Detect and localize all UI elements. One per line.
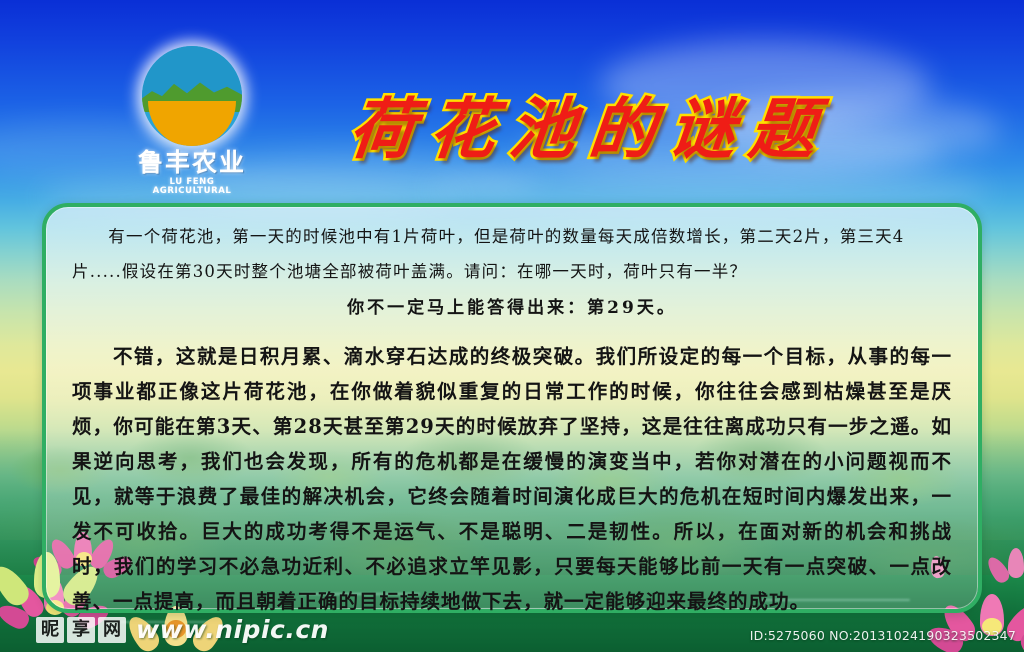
watermark-char: 网 bbox=[98, 617, 126, 643]
riddle-answer-line: 你不一定马上能答得出来：第29天。 bbox=[72, 291, 952, 325]
lotus-bud bbox=[996, 548, 1024, 592]
image-id-caption: ID:5275060 NO:20131024190323502347 bbox=[750, 628, 1016, 643]
site-watermark: 昵 享 网 www.nipic.cn bbox=[36, 615, 329, 644]
poster-canvas: 鲁丰农业 LU FENG AGRICULTURAL 荷花池的谜题 有一个荷花池，… bbox=[0, 0, 1024, 652]
logo-name-en: LU FENG AGRICULTURAL bbox=[131, 178, 253, 195]
logo-emblem-icon bbox=[142, 46, 242, 146]
logo-name-cn: 鲁丰农业 bbox=[131, 150, 253, 175]
logo-sun-segment bbox=[148, 101, 236, 146]
watermark-char: 昵 bbox=[36, 617, 64, 643]
watermark-char: 享 bbox=[67, 617, 95, 643]
poster-title-text: 荷花池的谜题 bbox=[345, 76, 835, 172]
poster-title: 荷花池的谜题 bbox=[300, 78, 880, 170]
content-panel: 有一个荷花池，第一天的时候池中有1片荷叶，但是荷叶的数量每天成倍数增长，第二天2… bbox=[42, 203, 982, 613]
riddle-intro-paragraph: 有一个荷花池，第一天的时候池中有1片荷叶，但是荷叶的数量每天成倍数增长，第二天2… bbox=[72, 219, 952, 289]
essay-body-paragraph: 不错，这就是日积月累、滴水穿石达成的终极突破。我们所设定的每一个目标，从事的每一… bbox=[72, 339, 952, 619]
brand-logo: 鲁丰农业 LU FENG AGRICULTURAL bbox=[131, 46, 253, 186]
watermark-url: www.nipic.cn bbox=[136, 615, 329, 644]
watermark-logo-cn: 昵 享 网 bbox=[36, 617, 126, 643]
